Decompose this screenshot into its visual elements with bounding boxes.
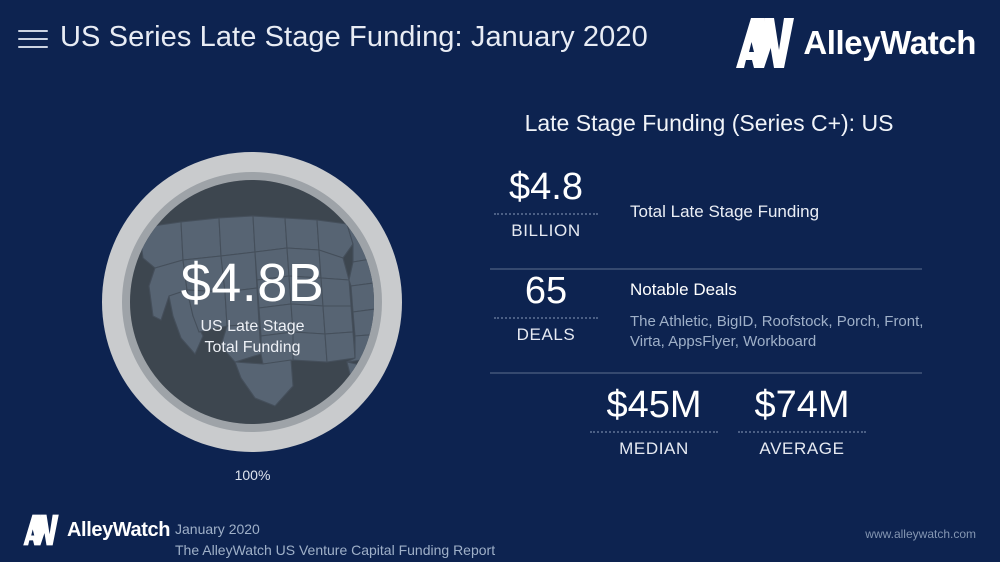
hamburger-bar <box>18 30 48 32</box>
stat-total-value: $4.8 <box>482 168 610 206</box>
hamburger-bar <box>18 38 48 40</box>
notable-deals-list: The Athletic, BigID, Roofstock, Porch, F… <box>630 312 930 352</box>
stat-median: $45M MEDIAN <box>570 386 738 459</box>
donut-percent-label: 100% <box>85 467 420 483</box>
stats-panel: Late Stage Funding (Series C+): US $4.8 … <box>470 100 970 490</box>
stat-median-value: $45M <box>570 386 738 424</box>
stat-total-label: Total Late Stage Funding <box>630 202 819 222</box>
page-header: US Series Late Stage Funding: January 20… <box>0 0 1000 88</box>
stat-deals-value: 65 <box>482 272 610 310</box>
stat-total-unit: BILLION <box>482 221 610 241</box>
stat-average: $74M AVERAGE <box>718 386 886 459</box>
hamburger-menu-icon[interactable] <box>18 27 48 51</box>
stat-dotted-rule <box>738 431 866 433</box>
stat-average-unit: AVERAGE <box>718 439 886 459</box>
footer-website-url[interactable]: www.alleywatch.com <box>865 527 976 541</box>
stat-dotted-rule <box>590 431 718 433</box>
stats-panel-title: Late Stage Funding (Series C+): US <box>470 110 948 137</box>
page-title: US Series Late Stage Funding: January 20… <box>60 21 648 54</box>
footer-report-meta: January 2020 The AlleyWatch US Venture C… <box>175 519 495 561</box>
stat-deals: 65 DEALS <box>482 272 610 345</box>
aw-monogram-icon <box>22 512 60 548</box>
funding-donut-chart <box>85 140 420 465</box>
footer-date: January 2020 <box>175 519 495 540</box>
hamburger-bar <box>18 46 48 48</box>
alleywatch-wordmark: AlleyWatch <box>803 24 976 62</box>
stat-total-funding: $4.8 BILLION <box>482 168 610 241</box>
funding-donut-panel: $4.8B US Late Stage Total Funding 100% <box>85 140 430 495</box>
stat-deals-label: Notable Deals <box>630 280 737 300</box>
alleywatch-wordmark: AlleyWatch <box>67 519 170 542</box>
alleywatch-logo-header: AlleyWatch <box>734 14 976 72</box>
stat-median-unit: MEDIAN <box>570 439 738 459</box>
stat-average-value: $74M <box>718 386 886 424</box>
section-divider <box>490 372 922 374</box>
alleywatch-logo-footer: AlleyWatch <box>22 512 170 548</box>
stat-deals-unit: DEALS <box>482 325 610 345</box>
stat-dotted-rule <box>494 317 598 319</box>
aw-monogram-icon <box>734 14 796 72</box>
footer-report-title: The AlleyWatch US Venture Capital Fundin… <box>175 540 495 561</box>
stat-dotted-rule <box>494 213 598 215</box>
